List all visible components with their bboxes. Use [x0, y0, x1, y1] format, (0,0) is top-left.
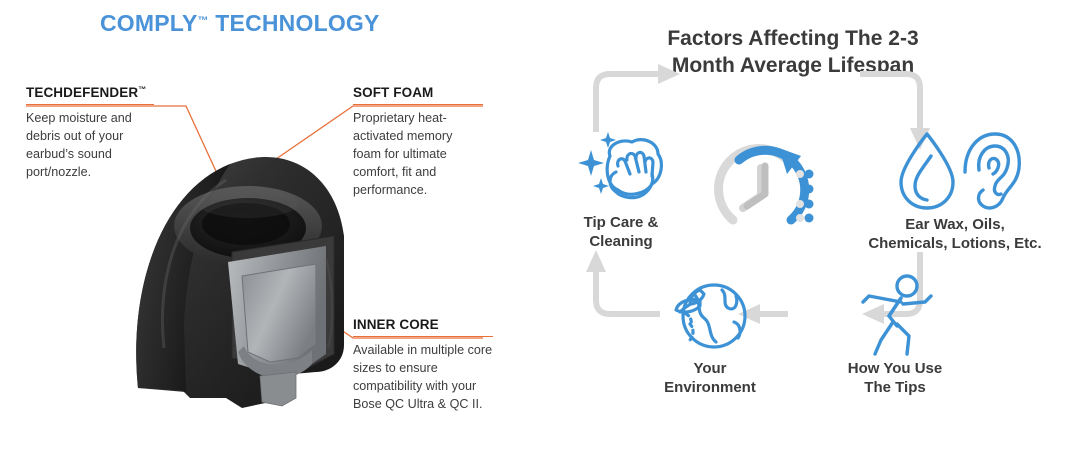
- lifespan-factors-panel: Factors Affecting The 2-3 Month Average …: [520, 0, 1070, 450]
- comply-technology-panel: COMPLY™ TECHNOLOGY: [0, 0, 520, 450]
- earbud-illustration: [120, 140, 370, 410]
- callout-techdefender-body: Keep moisture and debris out of your ear…: [26, 110, 154, 182]
- callout-inner-core-heading-text: INNER CORE: [353, 317, 439, 332]
- callout-soft-foam: SOFT FOAM Proprietary heat-activated mem…: [353, 85, 483, 199]
- callout-underline: [353, 104, 483, 106]
- cycle-node-ear-wax: Ear Wax, Oils, Chemicals, Lotions, Etc.: [840, 128, 1070, 254]
- clock-arrow-icon: [705, 138, 825, 248]
- cycle-node-environment-label: Your Environment: [620, 360, 800, 398]
- callout-soft-foam-heading-text: SOFT FOAM: [353, 85, 433, 100]
- page-title-suffix: TECHNOLOGY: [209, 10, 380, 36]
- trademark-symbol: ™: [197, 15, 208, 27]
- trademark-symbol: ™: [138, 85, 146, 94]
- callout-inner-core-heading: INNER CORE: [353, 317, 493, 333]
- cycle-node-tip-care: Tip Care & Cleaning: [526, 122, 716, 252]
- earbud-cutaway-image: [120, 140, 370, 410]
- clock-shadow-arc: [719, 149, 785, 220]
- callout-inner-core: INNER CORE Available in multiple core si…: [353, 317, 493, 414]
- running-person-icon: [845, 272, 945, 358]
- arrow-right-down-icon: [860, 74, 920, 128]
- callout-inner-core-body: Available in multiple core sizes to ensu…: [353, 342, 493, 414]
- callout-underline: [26, 104, 154, 106]
- cycle-node-tip-care-label: Tip Care & Cleaning: [526, 214, 716, 252]
- callout-techdefender-heading-text: TECHDEFENDER: [26, 85, 138, 100]
- globe-leaf-icon: [660, 272, 760, 358]
- callout-techdefender: TECHDEFENDER™ Keep moisture and debris o…: [26, 85, 154, 182]
- cycle-node-environment: Your Environment: [620, 272, 800, 398]
- cycle-title: Factors Affecting The 2-3 Month Average …: [643, 26, 943, 80]
- callout-soft-foam-body: Proprietary heat-activated memory foam f…: [353, 110, 483, 199]
- callout-underline: [353, 336, 493, 338]
- page-title: COMPLY™ TECHNOLOGY: [100, 10, 380, 37]
- clock-arrow-svg: [705, 138, 825, 248]
- cycle-node-how-you-use: How You Use The Tips: [810, 272, 980, 398]
- callout-techdefender-heading: TECHDEFENDER™: [26, 85, 154, 101]
- water-drop-ear-icon: [885, 128, 1025, 214]
- infographic-page: COMPLY™ TECHNOLOGY: [0, 0, 1070, 450]
- cycle-node-ear-wax-label: Ear Wax, Oils, Chemicals, Lotions, Etc.: [840, 216, 1070, 254]
- callout-soft-foam-heading: SOFT FOAM: [353, 85, 483, 101]
- hand-wiping-sparkle-icon: [566, 122, 676, 212]
- page-title-brand: COMPLY: [100, 10, 197, 36]
- arrowhead-up: [586, 250, 606, 272]
- cycle-node-how-you-use-label: How You Use The Tips: [810, 360, 980, 398]
- clock-hands: [747, 166, 765, 206]
